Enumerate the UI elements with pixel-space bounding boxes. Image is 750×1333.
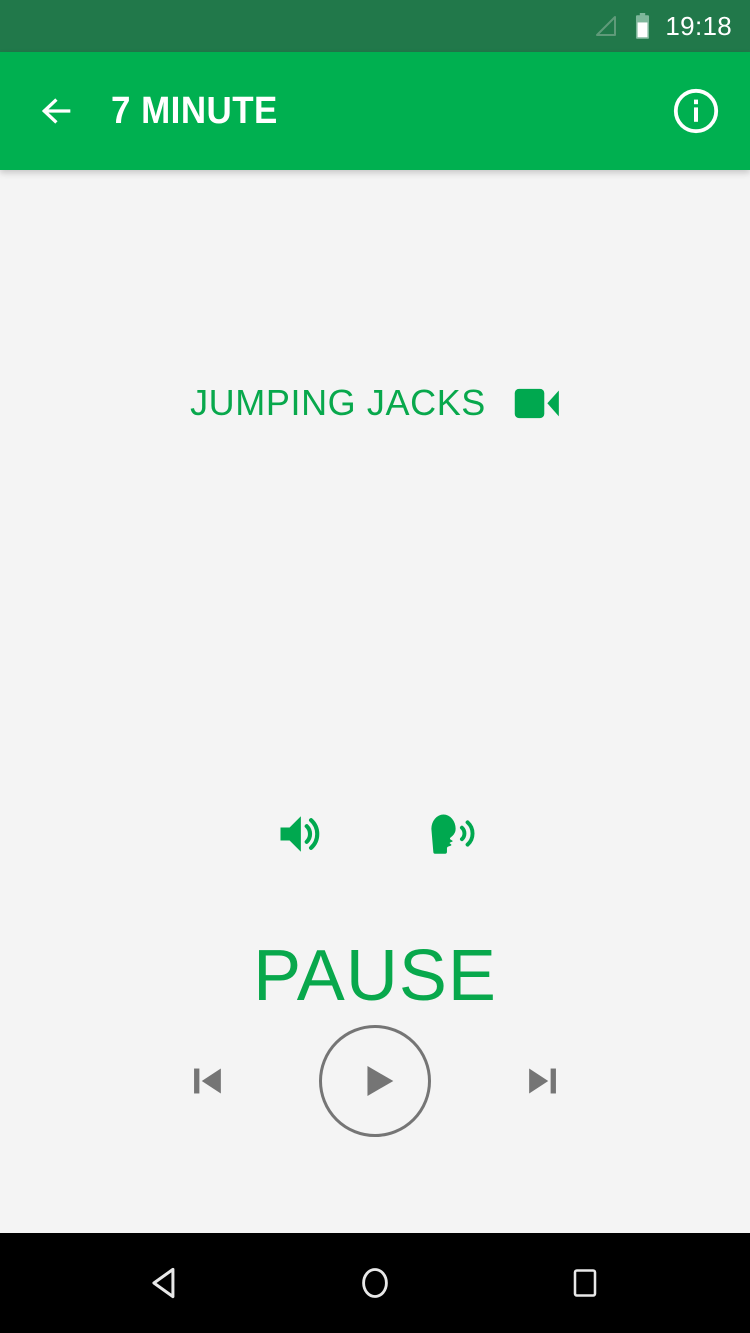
audio-toggles: [0, 803, 750, 865]
nav-home-button[interactable]: [320, 1233, 430, 1333]
app-bar: 7 MINUTE: [0, 52, 750, 170]
skip-next-button[interactable]: [503, 1042, 581, 1120]
skip-previous-icon: [186, 1059, 230, 1103]
skip-next-icon: [520, 1059, 564, 1103]
playback-controls: [0, 1025, 750, 1137]
status-bar: 19:18: [0, 0, 750, 52]
play-button[interactable]: [319, 1025, 431, 1137]
nav-recents-icon: [569, 1267, 601, 1299]
status-icons: [594, 13, 651, 40]
nav-back-button[interactable]: [110, 1233, 220, 1333]
status-time: 19:18: [665, 13, 732, 39]
back-button[interactable]: [28, 83, 84, 139]
voice-button[interactable]: [419, 803, 481, 865]
nav-home-icon: [357, 1265, 393, 1301]
info-icon: [672, 87, 720, 135]
skip-previous-button[interactable]: [169, 1042, 247, 1120]
record-voice-over-icon: [424, 808, 476, 860]
nav-recents-button[interactable]: [530, 1233, 640, 1333]
arrow-back-icon: [37, 92, 75, 130]
nav-back-icon: [146, 1264, 184, 1302]
battery-icon: [634, 13, 651, 40]
state-label: PAUSE: [0, 940, 750, 1012]
android-nav-bar: [0, 1233, 750, 1333]
page-title: 7 MINUTE: [111, 92, 278, 130]
signal-no-service-icon: [594, 14, 620, 38]
videocam-icon[interactable]: [514, 388, 560, 419]
workout-content: JUMPING JACKS: [0, 170, 750, 1233]
phone-screen: 19:18 7 MINUTE JUMPING JACKS: [0, 0, 750, 1333]
exercise-name: JUMPING JACKS: [190, 385, 486, 421]
play-icon: [350, 1058, 401, 1104]
info-button[interactable]: [666, 81, 726, 141]
volume-button[interactable]: [269, 803, 331, 865]
exercise-header: JUMPING JACKS: [0, 385, 750, 421]
volume-up-icon: [274, 808, 326, 860]
